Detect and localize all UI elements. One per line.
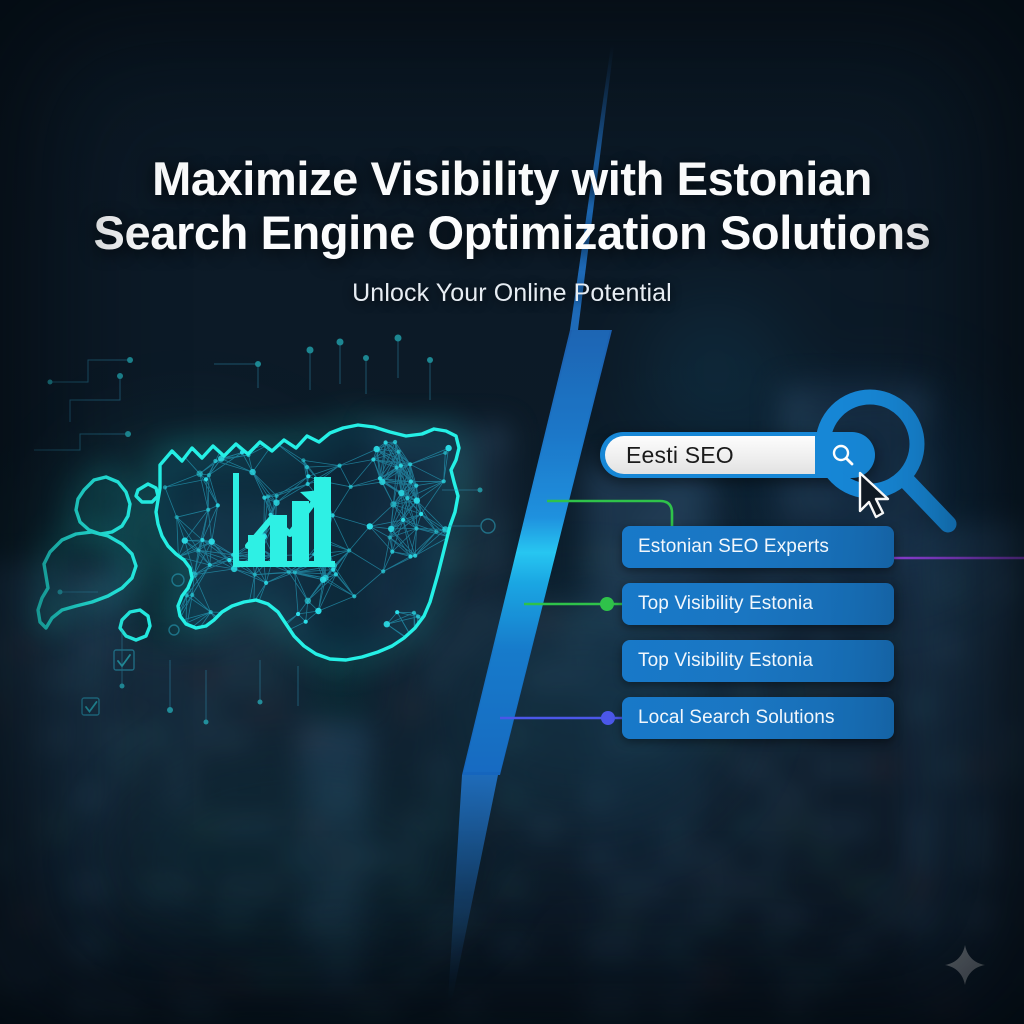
headline-line-2: Search Engine Optimization Solutions — [0, 206, 1024, 260]
suggestion-list: Estonian SEO Experts Top Visibility Esto… — [622, 526, 894, 754]
search-input[interactable]: Eesti SEO — [605, 436, 836, 474]
page-title: Maximize Visibility with Estonian Search… — [0, 152, 1024, 259]
headline-line-1: Maximize Visibility with Estonian — [152, 152, 872, 205]
suggestion-label: Top Visibility Estonia — [638, 593, 813, 615]
sparkle-star-icon — [944, 944, 986, 986]
hero-banner: Eesti SEO Estonian SEO Experts Top Visib… — [0, 0, 1024, 1024]
subtitle: Unlock Your Online Potential — [0, 279, 1024, 308]
suggestion-chip[interactable]: Local Search Solutions — [622, 697, 894, 739]
suggestion-chip[interactable]: Top Visibility Estonia — [622, 640, 894, 682]
suggestion-chip[interactable]: Estonian SEO Experts — [622, 526, 894, 568]
suggestion-chip[interactable]: Top Visibility Estonia — [622, 583, 894, 625]
suggestion-label: Estonian SEO Experts — [638, 536, 829, 558]
suggestion-label: Local Search Solutions — [638, 707, 835, 729]
suggestion-label: Top Visibility Estonia — [638, 650, 813, 672]
mouse-pointer-icon — [856, 470, 898, 522]
search-input-value: Eesti SEO — [626, 442, 734, 469]
